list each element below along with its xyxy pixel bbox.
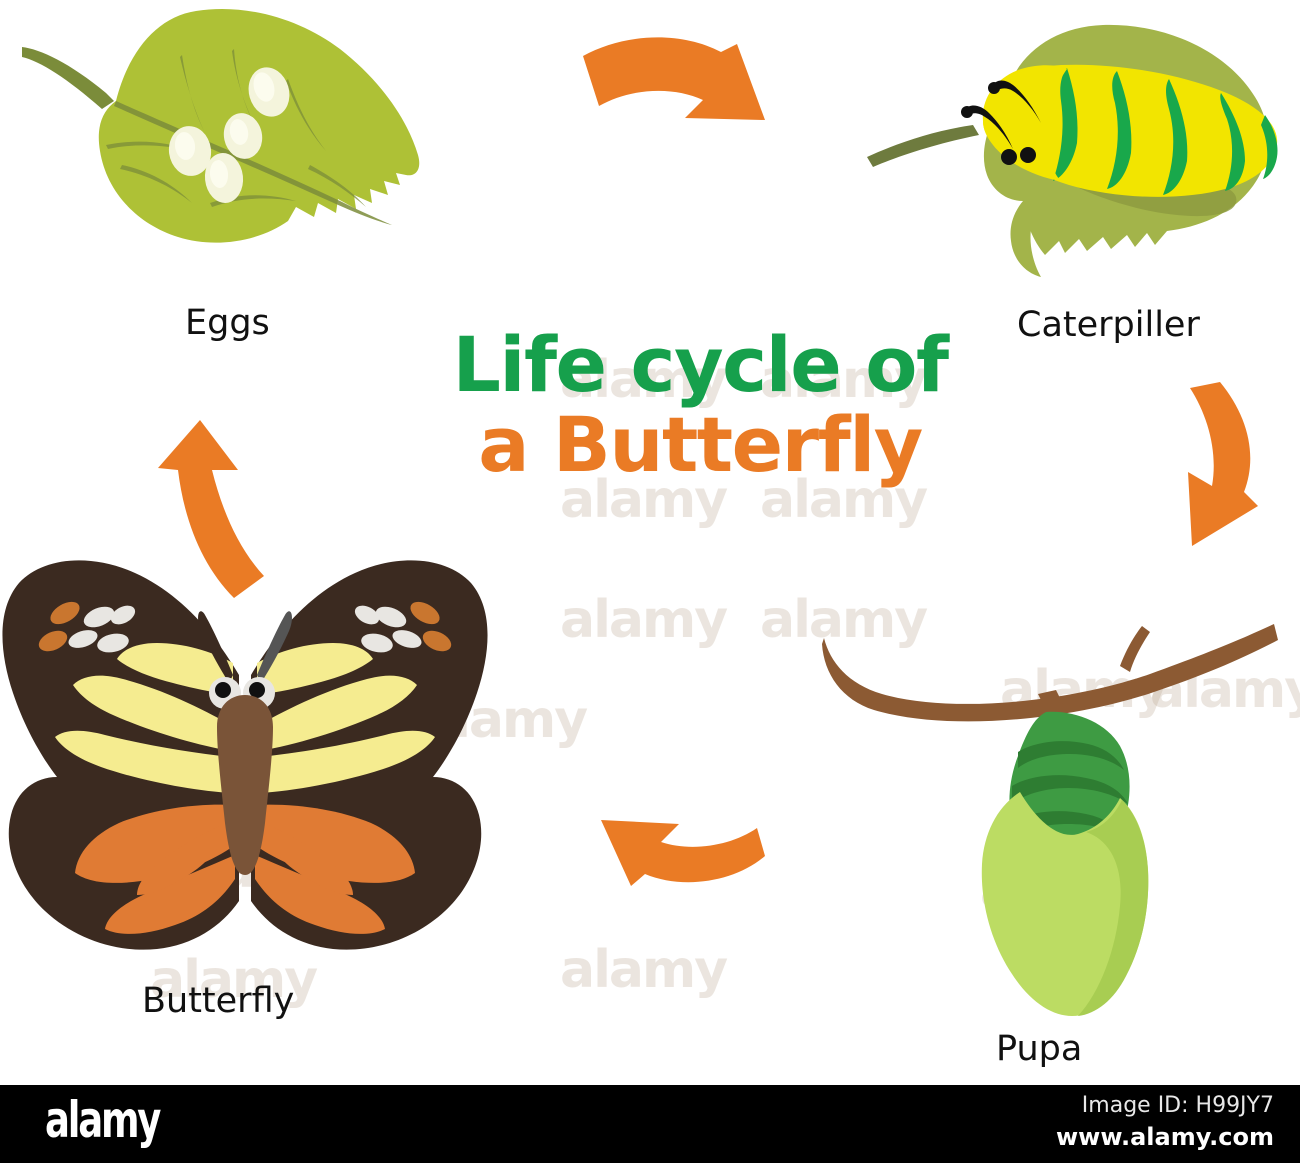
caterpillar-leaf-stem	[867, 125, 979, 167]
arrow-right-icon	[575, 28, 800, 153]
caterpillar-eye-left	[1001, 149, 1017, 165]
stage-label-pupa: Pupa	[996, 1029, 1082, 1069]
caterpillar-antenna-left-tip	[988, 82, 1000, 94]
stage-label-eggs: Eggs	[185, 303, 270, 343]
arrow-butterfly-to-eggs	[152, 410, 287, 600]
leaf-with-eggs-svg	[10, 5, 440, 285]
title-line-1: Life cycle of	[430, 326, 970, 404]
caterpillar-on-leaf-svg	[855, 5, 1285, 290]
stage-label-butterfly: Butterfly	[142, 981, 294, 1021]
leaf-stem	[22, 47, 114, 109]
caterpillar-illustration	[855, 5, 1285, 290]
branch-twig	[1120, 626, 1150, 672]
caterpillar-antenna-right-tip	[961, 106, 973, 118]
title-line-2: a Butterfly	[430, 406, 970, 484]
pupa-on-branch-svg	[820, 610, 1280, 1020]
watermark-tile: alamy	[560, 940, 726, 1000]
alamy-footer-bar: alamy Image ID: H99JY7 www.alamy.com	[0, 1085, 1300, 1163]
arrow-right-shape	[583, 37, 765, 120]
alamy-url-text: www.alamy.com	[1056, 1123, 1274, 1151]
arrow-left-icon	[575, 800, 800, 930]
pupa-illustration	[820, 610, 1280, 1020]
butterfly-eye-right-pupil	[249, 682, 265, 698]
arrow-down-shape	[1188, 382, 1258, 546]
arrow-left-shape	[601, 820, 765, 886]
arrow-eggs-to-caterpillar	[575, 28, 800, 153]
butterfly-svg	[0, 555, 495, 960]
watermark-tile: alamy	[560, 590, 726, 650]
arrow-up-shape	[158, 420, 264, 598]
arrow-up-icon	[152, 410, 287, 600]
arrow-caterpillar-to-pupa	[1162, 372, 1300, 562]
butterfly-illustration	[0, 555, 495, 960]
image-id-text: Image ID: H99JY7	[1082, 1093, 1274, 1118]
arrow-pupa-to-butterfly	[575, 800, 800, 930]
alamy-logo: alamy	[45, 1091, 159, 1149]
eggs-illustration	[10, 5, 440, 285]
caterpillar-eye-right	[1020, 147, 1036, 163]
stage-label-caterpillar: Caterpiller	[1017, 305, 1200, 345]
poster-title: Life cycle of a Butterfly	[430, 326, 970, 483]
poster-canvas: alamyalamyalamyalamyalamyalamyalamyalamy…	[0, 0, 1300, 1163]
butterfly-eye-left-pupil	[215, 682, 231, 698]
arrow-down-icon	[1162, 372, 1300, 562]
